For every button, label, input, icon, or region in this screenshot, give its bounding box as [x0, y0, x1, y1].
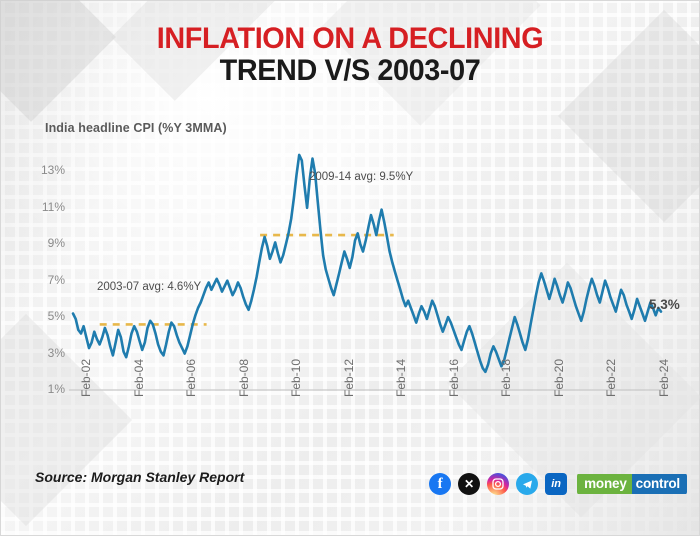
y-axis-tick: 13%	[31, 163, 65, 177]
logo-control: control	[632, 474, 687, 494]
y-axis-tick: 11%	[31, 200, 65, 214]
end-value-label: 5.3%	[649, 297, 680, 312]
y-axis-tick: 7%	[31, 273, 65, 287]
logo-money: money	[577, 474, 632, 494]
x-axis-tick: Feb-10	[289, 359, 303, 397]
facebook-glyph: f	[438, 477, 443, 492]
chart-subtitle: India headline CPI (%Y 3MMA)	[45, 121, 227, 135]
x-axis-tick: Feb-20	[552, 359, 566, 397]
y-axis-tick: 1%	[31, 382, 65, 396]
x-axis-tick: Feb-04	[132, 359, 146, 397]
x-axis-tick: Feb-22	[604, 359, 618, 397]
title-line-2: TREND V/S 2003-07	[15, 55, 685, 87]
y-axis-tick: 5%	[31, 309, 65, 323]
y-axis-tick: 9%	[31, 236, 65, 250]
x-axis-tick: Feb-12	[342, 359, 356, 397]
annotation-2009-14: 2009-14 avg: 9.5%Y	[309, 171, 413, 183]
x-glyph: ✕	[464, 478, 474, 490]
telegram-glyph	[521, 478, 534, 491]
x-axis-tick: Feb-06	[184, 359, 198, 397]
x-axis-tick: Feb-08	[237, 359, 251, 397]
social-bar: f ✕ in money control	[429, 473, 687, 495]
telegram-icon[interactable]	[516, 473, 538, 495]
annotation-2003-07: 2003-07 avg: 4.6%Y	[97, 281, 201, 293]
infographic-canvas: INFLATION ON A DECLINING TREND V/S 2003-…	[0, 0, 700, 536]
source-note: Source: Morgan Stanley Report	[35, 469, 244, 485]
linkedin-glyph: in	[551, 479, 561, 490]
x-axis-tick: Feb-02	[79, 359, 93, 397]
x-axis-tick: Feb-16	[447, 359, 461, 397]
facebook-icon[interactable]: f	[429, 473, 451, 495]
x-axis-tick: Feb-14	[394, 359, 408, 397]
x-twitter-icon[interactable]: ✕	[458, 473, 480, 495]
cpi-series-line	[73, 155, 661, 372]
instagram-glyph	[492, 478, 504, 490]
instagram-icon[interactable]	[487, 473, 509, 495]
page-title: INFLATION ON A DECLINING TREND V/S 2003-…	[1, 23, 699, 87]
x-axis-tick: Feb-24	[657, 359, 671, 397]
y-axis-tick: 3%	[31, 346, 65, 360]
linkedin-icon[interactable]: in	[545, 473, 567, 495]
moneycontrol-logo[interactable]: money control	[577, 473, 687, 495]
x-axis-tick: Feb-18	[499, 359, 513, 397]
title-line-1: INFLATION ON A DECLINING	[15, 23, 685, 55]
